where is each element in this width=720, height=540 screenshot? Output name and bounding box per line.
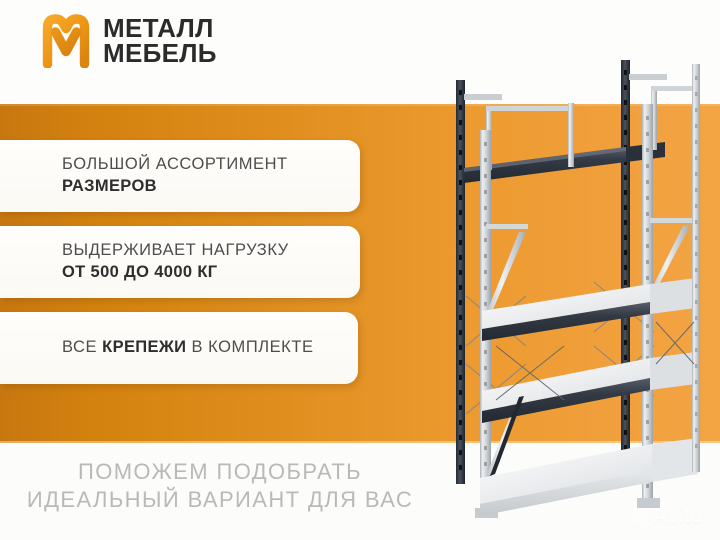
feature-card-fasteners: ВСЕ КРЕПЕЖИ В КОМПЛЕКТЕ [0, 312, 358, 384]
frame-diagonal-braces [486, 218, 692, 476]
promo-banner: МЕТАЛЛ МЕБЕЛЬ БОЛЬШОЙ АССОРТИМЕНТ РАЗМЕР… [0, 0, 720, 540]
brand-logo: МЕТАЛЛ МЕБЕЛЬ [38, 14, 217, 68]
shelf-beam-top [464, 142, 665, 183]
avito-dots-icon [629, 507, 649, 527]
brand-wordmark: МЕТАЛЛ МЕБЕЛЬ [103, 16, 217, 66]
feature-regular-text: ВЫДЕРЖИВАЕТ НАГРУЗКУ [62, 240, 289, 262]
feature-card-text: БОЛЬШОЙ АССОРТИМЕНТ РАЗМЕРОВ [0, 154, 302, 198]
feature-bold-text: РАЗМЕРОВ [62, 176, 288, 198]
letter-m-monogram-icon [38, 14, 94, 68]
feature-card-text: ВЫДЕРЖИВАЕТ НАГРУЗКУ ОТ 500 ДО 4000 КГ [0, 240, 303, 284]
avito-label: Avito [653, 505, 703, 529]
brand-line-2: МЕБЕЛЬ [103, 41, 217, 66]
feature-card-assortment: БОЛЬШОЙ АССОРТИМЕНТ РАЗМЕРОВ [0, 140, 360, 212]
top-frame-rail-left [486, 106, 572, 111]
top-frame-upright-left-inner [568, 103, 574, 167]
product-photo-metal-shelving-rack [418, 46, 720, 540]
feature-card-text: ВСЕ КРЕПЕЖИ В КОМПЛЕКТЕ [0, 337, 328, 359]
tagline-line-1: ПОМОЖЕМ ПОДОБРАТЬ [0, 458, 440, 486]
feature-regular-text: ВСЕ [62, 338, 102, 356]
shelf-level-2 [482, 278, 696, 341]
rear-left-upright [456, 80, 465, 484]
rear-right-upright [621, 60, 630, 464]
avito-watermark: Avito [629, 503, 715, 531]
feature-bold-text: КРЕПЕЖИ [102, 338, 186, 356]
feature-regular-text: БОЛЬШОЙ АССОРТИМЕНТ [62, 154, 288, 176]
top-frame-rail-right [651, 86, 697, 91]
tagline: ПОМОЖЕМ ПОДОБРАТЬ ИДЕАЛЬНЫЙ ВАРИАНТ ДЛЯ … [0, 458, 440, 513]
shelving-rack-illustration [418, 46, 720, 540]
feature-bold-text: ОТ 500 ДО 4000 КГ [62, 262, 289, 284]
feature-regular-text-after: В КОМПЛЕКТЕ [186, 338, 313, 356]
feature-card-load-capacity: ВЫДЕРЖИВАЕТ НАГРУЗКУ ОТ 500 ДО 4000 КГ [0, 226, 360, 298]
tagline-line-2: ИДЕАЛЬНЫЙ ВАРИАНТ ДЛЯ ВАС [0, 486, 440, 514]
rear-frame-rails [464, 74, 667, 100]
